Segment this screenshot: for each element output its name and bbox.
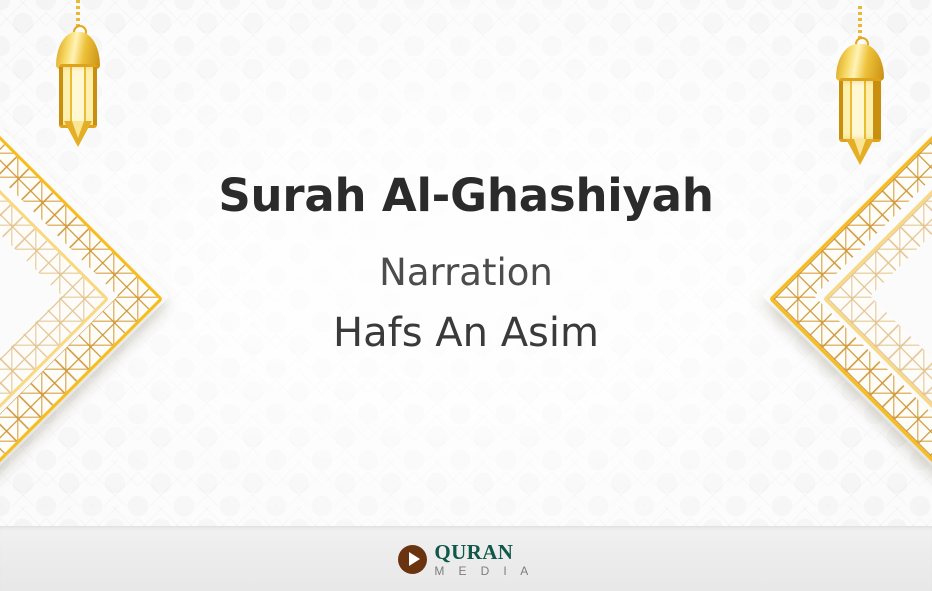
logo-primary-text: QURAN [434, 542, 513, 563]
footer-bar: QURAN M E D I A [0, 526, 932, 591]
quran-media-title-slide: Surah Al-Ghashiyah Narration Hafs An Asi… [0, 0, 932, 591]
play-circle-icon[interactable] [398, 545, 427, 574]
surah-title: Surah Al-Ghashiyah [218, 172, 713, 219]
quran-media-logo[interactable]: QURAN M E D I A [398, 542, 533, 577]
slide-content: Surah Al-Ghashiyah Narration Hafs An Asi… [0, 0, 932, 527]
play-triangle-icon [409, 552, 420, 566]
logo-secondary-text: M E D I A [434, 565, 533, 577]
narration-label: Narration [379, 253, 553, 294]
logo-wordmark: QURAN M E D I A [434, 542, 533, 577]
narration-name: Hafs An Asim [333, 311, 599, 355]
